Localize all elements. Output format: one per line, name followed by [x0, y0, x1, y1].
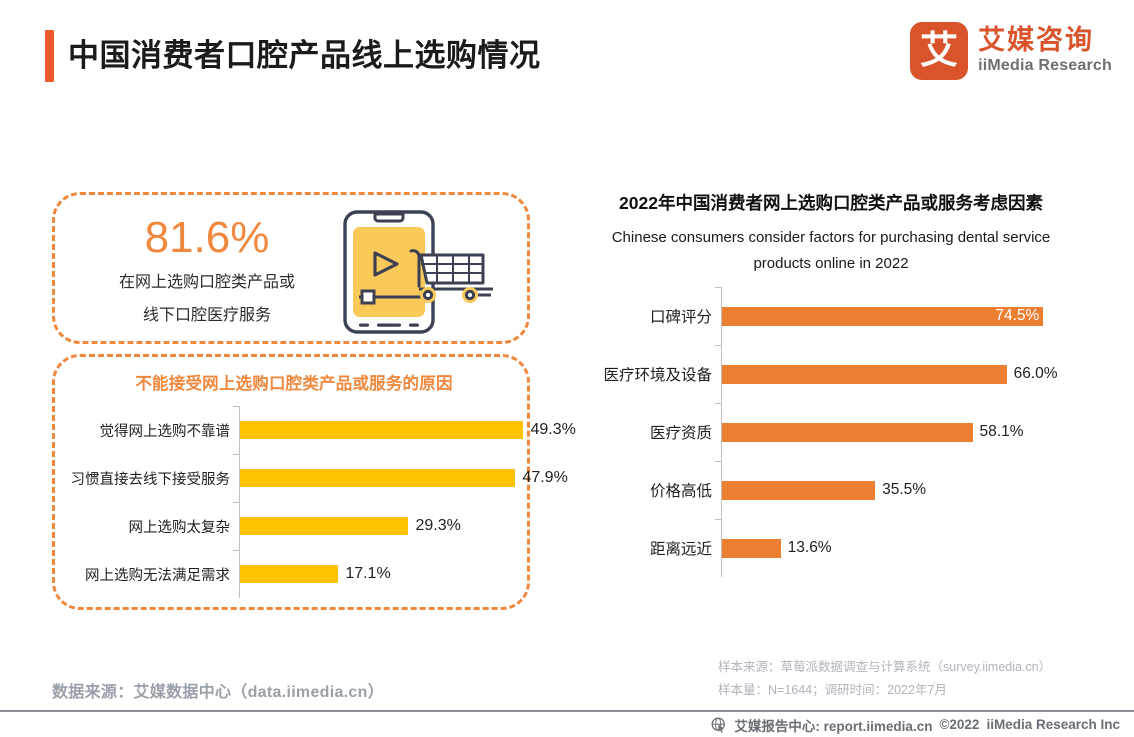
bar-value-label: 29.3% [408, 517, 460, 535]
logo-name-cn: 艾媒咨询 [978, 26, 1112, 56]
axis-tick [233, 454, 239, 455]
axis-tick [233, 550, 239, 551]
globe-cursor-icon [711, 717, 727, 733]
bar [722, 423, 973, 442]
factors-subtitle-line-2: products online in 2022 [566, 251, 1096, 277]
title-accent-bar [45, 30, 54, 82]
bar-value-label: 58.1% [973, 423, 1024, 441]
phone-shopping-cart-icon [333, 207, 519, 337]
stat-desc-line-1: 在网上选购口腔类产品或 [73, 268, 341, 298]
axis-tick [715, 519, 721, 520]
bar-row: 距离远近13.6% [722, 539, 781, 558]
factors-chart-subtitle: Chinese consumers consider factors for p… [566, 225, 1096, 278]
page-title: 中国消费者口腔产品线上选购情况 [68, 30, 541, 82]
brand-logo: 艾 艾媒咨询 iiMedia Research [910, 22, 1112, 80]
reasons-chart-title: 不能接受网上选购口腔类产品或服务的原因 [55, 370, 533, 394]
factors-subtitle-line-1: Chinese consumers consider factors for p… [566, 225, 1096, 251]
bar [240, 421, 523, 439]
footer-report-center[interactable]: 艾媒报告中心: report.iimedia.cn [734, 715, 932, 735]
bar-value-label: 49.3% [523, 421, 575, 439]
bar-row: 医疗环境及设备66.0% [722, 365, 1007, 384]
stat-text-block: 81.6% 在网上选购口腔类产品或 线下口腔医疗服务 [73, 213, 341, 331]
axis-tick [715, 403, 721, 404]
bar-row: 习惯直接去线下接受服务47.9% [240, 469, 515, 487]
bar-row: 觉得网上选购不靠谱49.3% [240, 421, 523, 439]
logo-mark-icon: 艾 [910, 22, 968, 80]
header: 中国消费者口腔产品线上选购情况 艾 艾媒咨询 iiMedia Research [0, 0, 1134, 110]
bar-value-label: 74.5% [995, 307, 1039, 325]
bar [722, 365, 1007, 384]
bar [722, 481, 875, 500]
bar [240, 469, 515, 487]
bar-category-label: 觉得网上选购不靠谱 [100, 420, 241, 441]
bar-category-label: 距离远近 [650, 537, 722, 559]
factors-chart-title: 2022年中国消费者网上选购口腔类产品或服务考虑因素 [566, 190, 1096, 217]
bar [722, 539, 781, 558]
bar-category-label: 医疗环境及设备 [603, 363, 722, 385]
bar-value-label: 17.1% [338, 565, 390, 583]
axis-tick [715, 287, 721, 288]
stat-desc-line-2: 线下口腔医疗服务 [73, 301, 341, 331]
axis-tick [233, 502, 239, 503]
footer-copyright: ©2022 [939, 717, 979, 732]
bar-value-label: 35.5% [875, 481, 926, 499]
footer-company: iiMedia Research Inc [986, 717, 1120, 732]
infographic-page: 中国消费者口腔产品线上选购情况 艾 艾媒咨询 iiMedia Research … [0, 0, 1134, 737]
axis-tick [715, 461, 721, 462]
sample-source-text: 样本来源：草莓派数据调查与计算系统（survey.iimedia.cn） [718, 656, 1118, 679]
bar-row: 医疗资质58.1% [722, 423, 973, 442]
axis-tick [233, 406, 239, 407]
bar-row: 口碑评分74.5% [722, 307, 1043, 326]
bar-row: 网上选购太复杂29.3% [240, 517, 408, 535]
bar-value-label: 13.6% [781, 539, 832, 557]
stat-card: 81.6% 在网上选购口腔类产品或 线下口腔医疗服务 [52, 192, 530, 344]
logo-text: 艾媒咨询 iiMedia Research [978, 26, 1112, 76]
bar [240, 517, 408, 535]
sample-size-text: 样本量：N=1644；调研时间：2022年7月 [718, 679, 1118, 702]
bar-category-label: 网上选购无法满足需求 [85, 564, 240, 585]
bar-value-label: 66.0% [1007, 365, 1058, 383]
footer-bar: 艾媒报告中心: report.iimedia.cn ©2022 iiMedia … [0, 712, 1134, 737]
bar-row: 价格高低35.5% [722, 481, 875, 500]
bar-category-label: 习惯直接去线下接受服务 [71, 468, 241, 489]
logo-name-en: iiMedia Research [978, 56, 1112, 76]
data-source-text: 数据来源：艾媒数据中心（data.iimedia.cn） [52, 678, 384, 702]
axis-tick [715, 345, 721, 346]
bar-category-label: 口碑评分 [650, 305, 722, 327]
bar [240, 565, 338, 583]
bar-category-label: 医疗资质 [650, 421, 722, 443]
bar-row: 网上选购无法满足需求17.1% [240, 565, 338, 583]
sample-note: 样本来源：草莓派数据调查与计算系统（survey.iimedia.cn） 样本量… [718, 656, 1118, 702]
stat-value: 81.6% [73, 213, 341, 264]
bar-category-label: 价格高低 [650, 479, 722, 501]
bar-value-label: 47.9% [515, 469, 567, 487]
bar-category-label: 网上选购太复杂 [129, 516, 241, 537]
